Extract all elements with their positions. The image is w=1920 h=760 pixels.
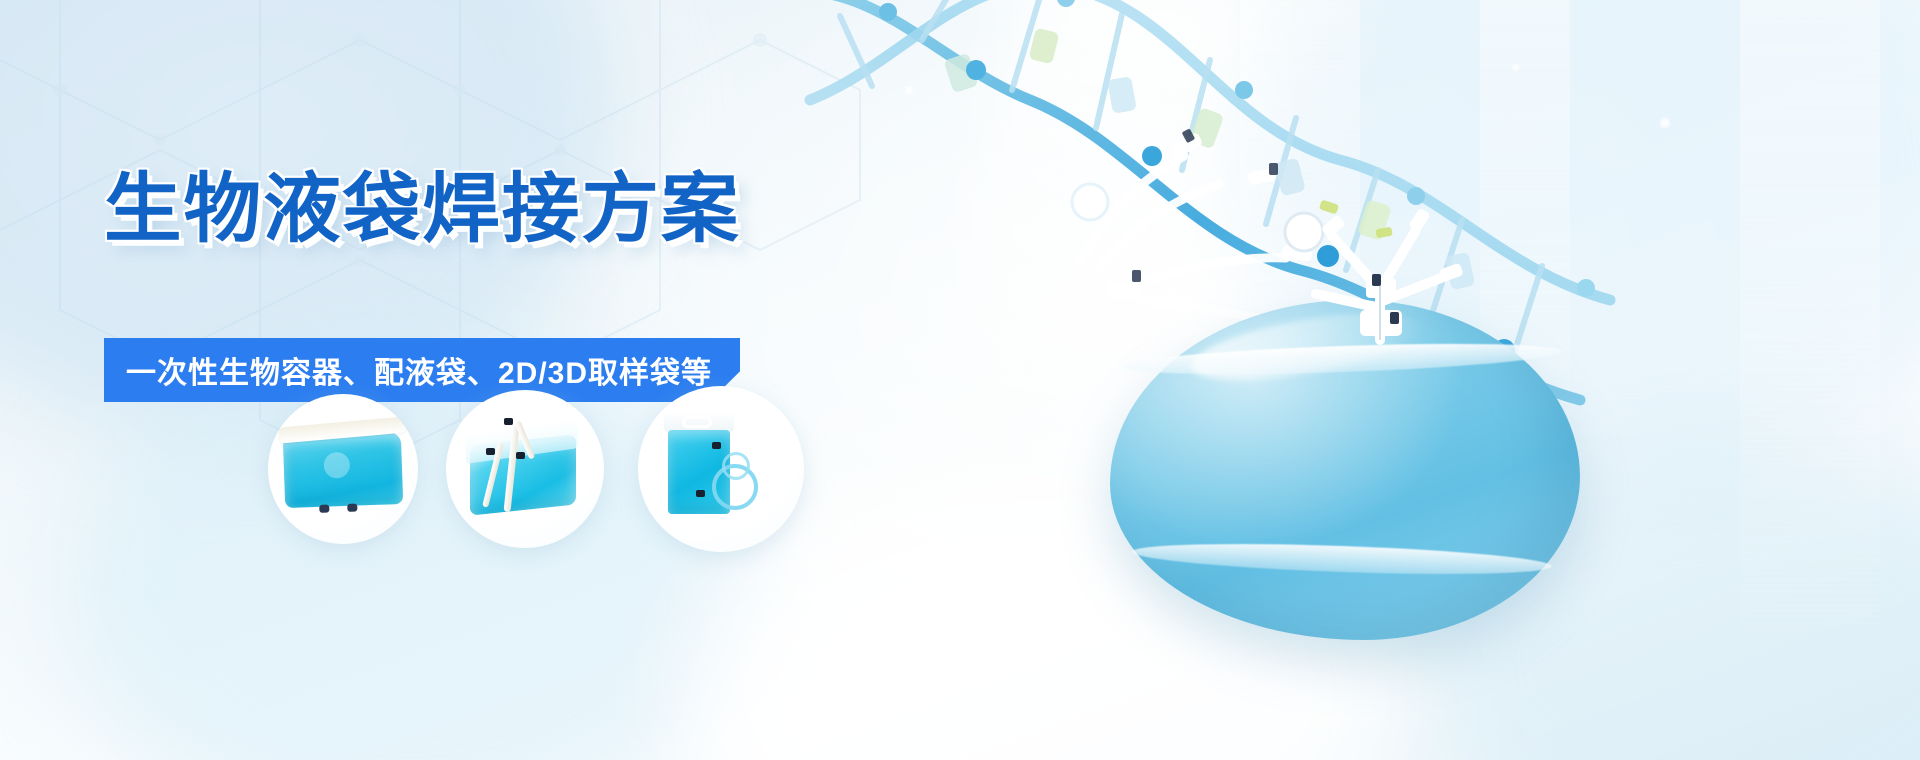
sparkle-decoration — [1660, 118, 1670, 128]
sparkle-decoration — [905, 86, 913, 94]
tube-cap-icon — [712, 442, 721, 449]
bag-port-icon — [319, 505, 329, 513]
tube-cap-icon — [504, 418, 513, 425]
product-thumb-2[interactable] — [446, 390, 604, 548]
bag-port-icon — [347, 504, 357, 512]
tube-cap-icon — [516, 452, 525, 459]
tube-manifold-icon — [1240, 190, 1520, 370]
bag-handle-icon — [682, 416, 712, 428]
headline-block: 生物液袋焊接方案 — [104, 172, 728, 248]
product-thumb-3[interactable] — [638, 386, 804, 552]
tube-cap-icon — [696, 490, 705, 497]
tube-cap-icon — [486, 448, 495, 455]
product-thumb-1[interactable] — [268, 394, 418, 544]
page-title: 生物液袋焊接方案 — [104, 172, 740, 248]
banner-root: 生物液袋焊接方案 一次性生物容器、配液袋、2D/3D取样袋等 — [0, 0, 1920, 760]
subtitle-ribbon: 一次性生物容器、配液袋、2D/3D取样袋等 — [104, 338, 740, 402]
liquid-bag-pillow-icon — [283, 432, 403, 508]
sparkle-decoration — [1512, 64, 1519, 71]
tubing-coil-icon — [722, 452, 750, 480]
